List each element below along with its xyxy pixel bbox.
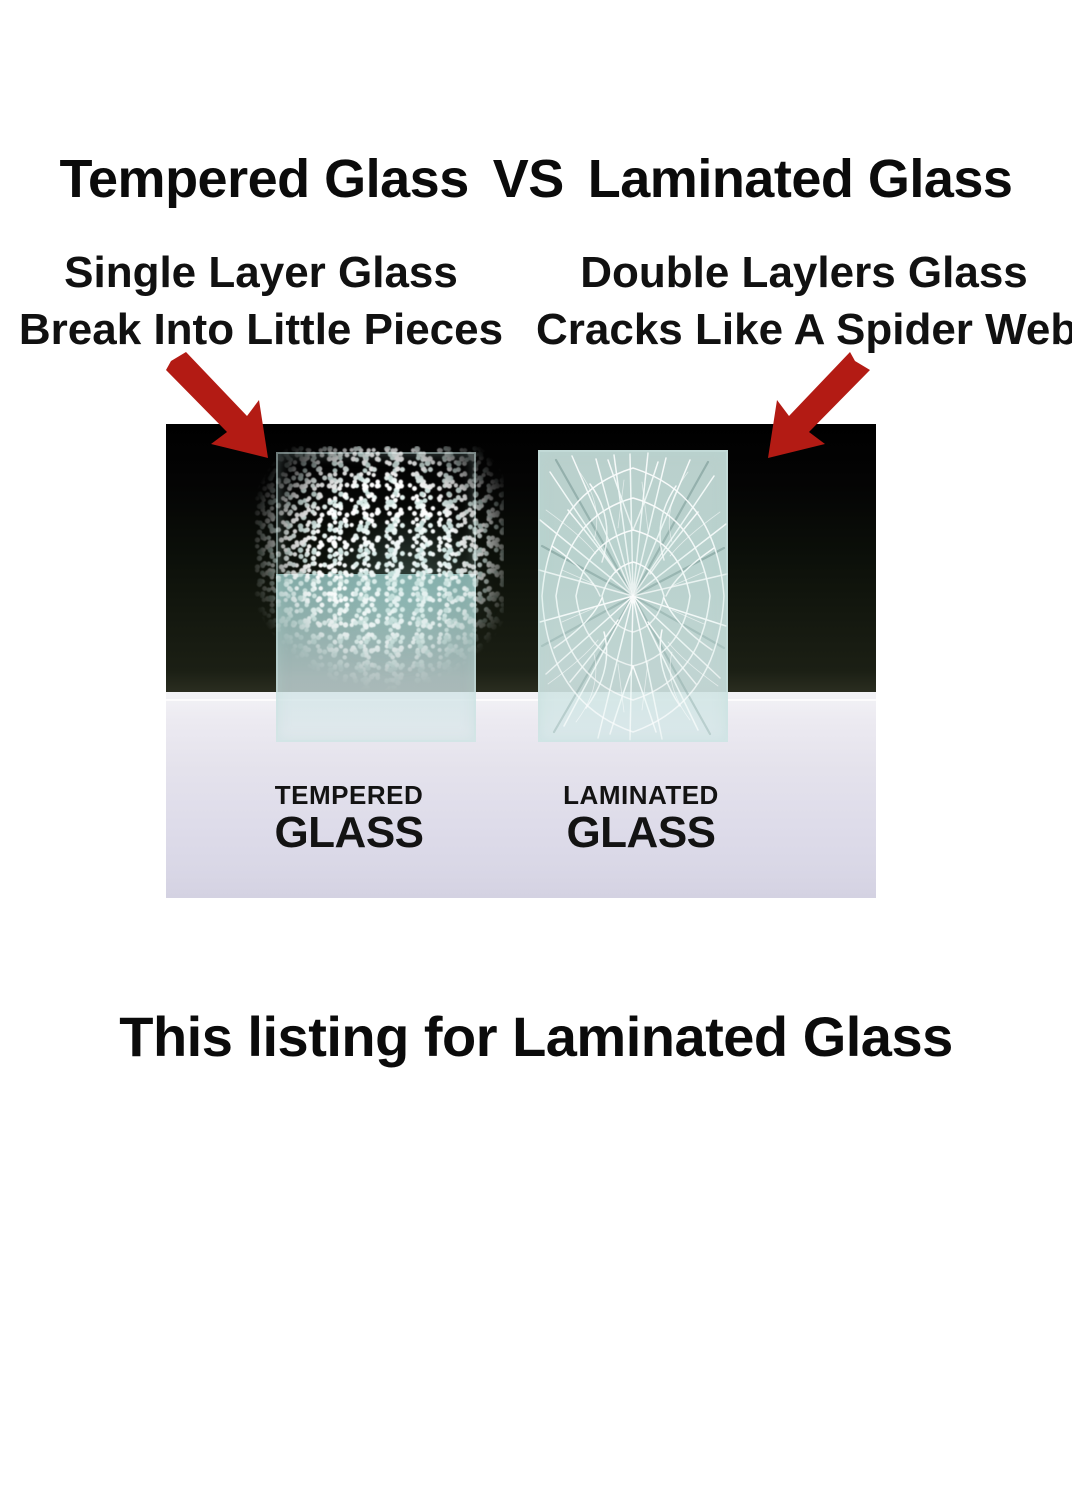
photo-label-laminated-small: LAMINATED: [516, 782, 766, 808]
page-title: Tempered GlassVSLaminated Glass: [0, 148, 1072, 210]
title-vs-separator: VS: [493, 148, 564, 210]
listing-note: This listing for Laminated Glass: [0, 1004, 1072, 1070]
photo-label-tempered: TEMPERED GLASS: [234, 782, 464, 855]
photo-label-laminated-big: GLASS: [516, 811, 766, 855]
tempered-caption-block: Single Layer Glass Break Into Little Pie…: [6, 244, 516, 358]
laminated-caption-block: Double Laylers Glass Cracks Like A Spide…: [536, 244, 1072, 358]
title-tempered-term: Tempered Glass: [60, 148, 469, 210]
laminated-slab-edge: [538, 450, 728, 742]
photo-label-tempered-small: TEMPERED: [234, 782, 464, 808]
laminated-glass-slab: [538, 450, 728, 742]
laminated-caption-line2: Cracks Like A Spider Web: [536, 301, 1072, 358]
product-infographic: Tempered GlassVSLaminated Glass Single L…: [0, 0, 1072, 1500]
tempered-caption-line1: Single Layer Glass: [6, 244, 516, 301]
comparison-captions: Single Layer Glass Break Into Little Pie…: [0, 244, 1072, 364]
photo-label-tempered-big: GLASS: [234, 811, 464, 855]
tempered-shatter-tint: [254, 446, 504, 691]
comparison-photo: TEMPERED GLASS LAMINATED GLASS: [166, 424, 876, 898]
title-laminated-term: Laminated Glass: [588, 148, 1013, 210]
tempered-caption-line2: Break Into Little Pieces: [6, 301, 516, 358]
photo-label-laminated: LAMINATED GLASS: [516, 782, 766, 855]
laminated-caption-line1: Double Laylers Glass: [536, 244, 1072, 301]
